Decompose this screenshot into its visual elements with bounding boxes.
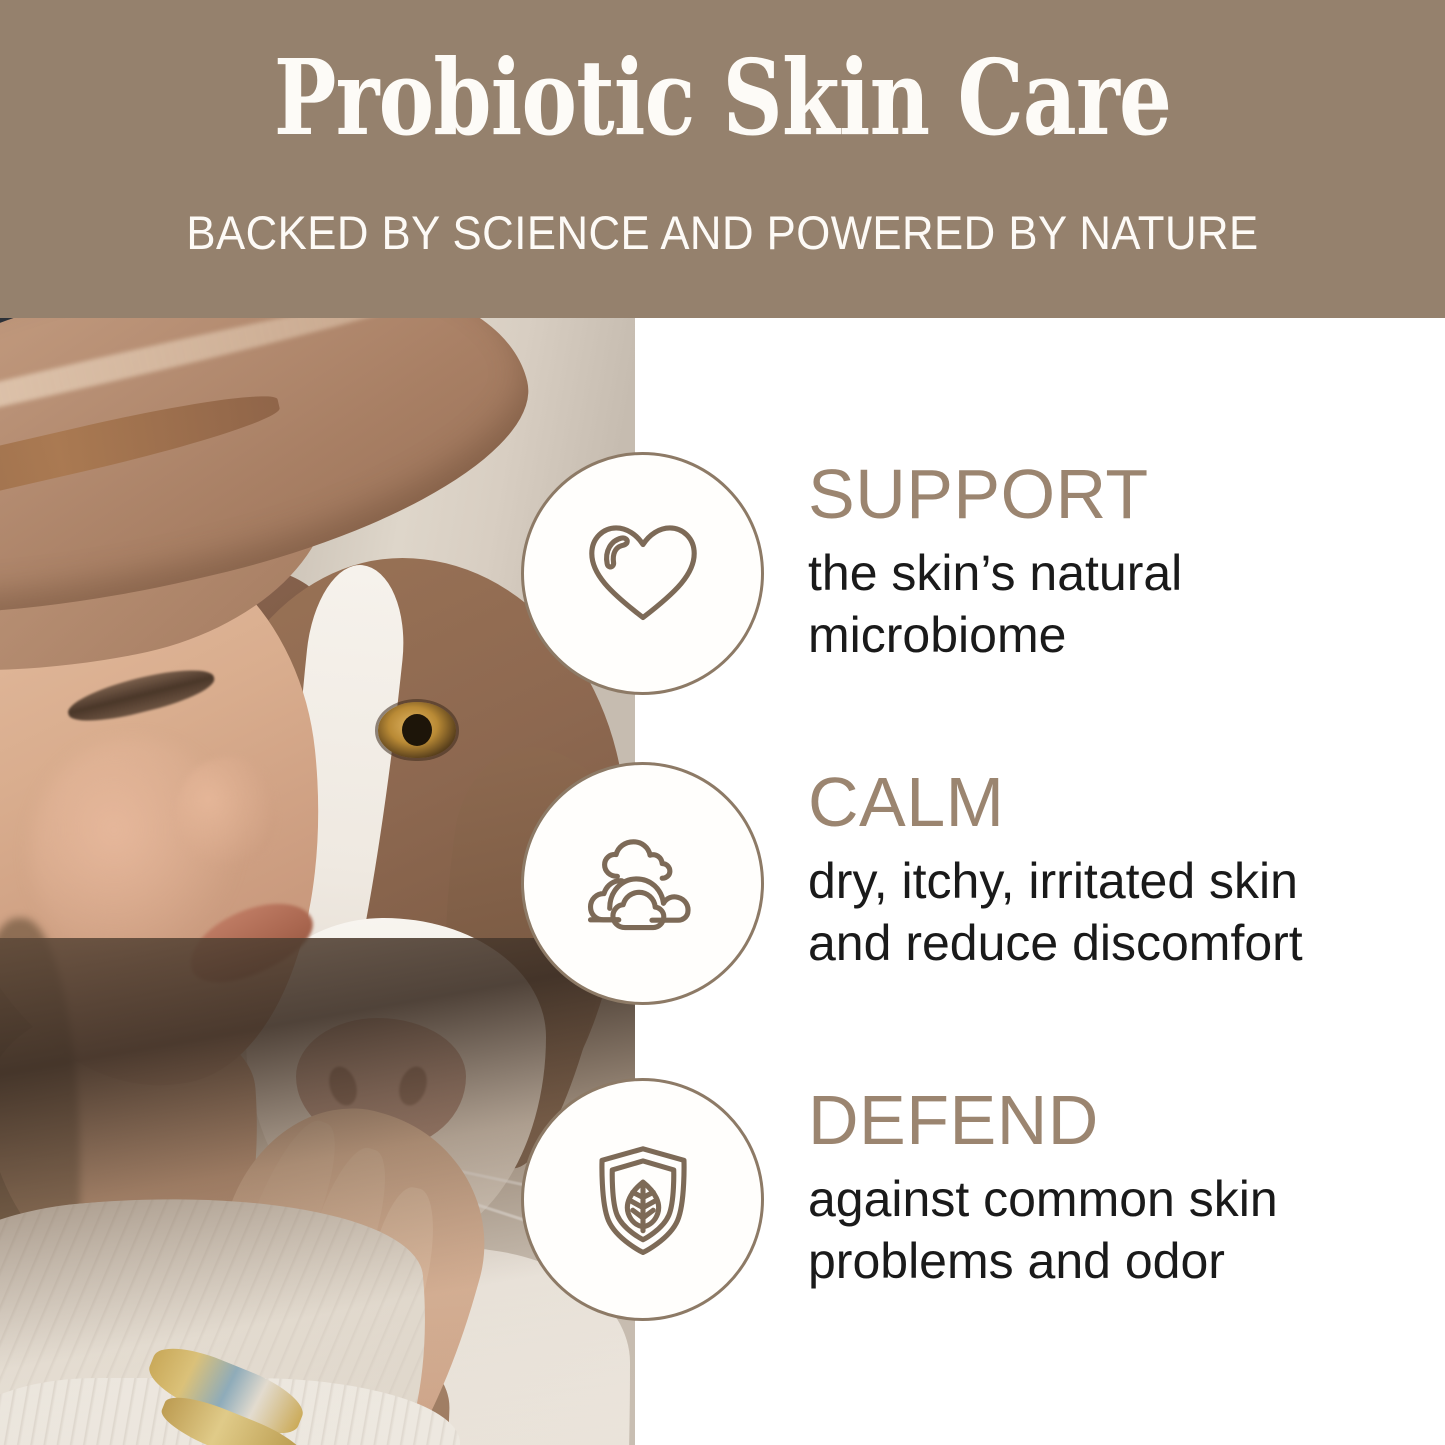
page-title: Probiotic Skin Care — [145, 42, 1301, 154]
benefit-heading-defend: DEFEND — [808, 1082, 1428, 1158]
header-band: Probiotic Skin Care BACKED BY SCIENCE AN… — [0, 0, 1445, 318]
benefit-body-calm: dry, itchy, irritated skin and reduce di… — [808, 850, 1428, 974]
benefit-body-support: the skin’s natural microbiome — [808, 542, 1428, 666]
clouds-icon — [579, 820, 707, 948]
shield-leaf-icon — [579, 1136, 707, 1264]
probiotic-skin-care-infographic: Probiotic Skin Care BACKED BY SCIENCE AN… — [0, 0, 1445, 1445]
benefit-heading-support: SUPPORT — [808, 456, 1428, 532]
benefit-body-line: microbiome — [808, 604, 1428, 666]
benefit-body-line: against common skin — [808, 1168, 1428, 1230]
benefit-body-line: problems and odor — [808, 1230, 1428, 1292]
benefit-row-calm: CALM dry, itchy, irritated skin and redu… — [0, 762, 1445, 1022]
heart-icon — [579, 510, 707, 638]
benefit-text-support: SUPPORT the skin’s natural microbiome — [808, 456, 1428, 666]
benefit-text-defend: DEFEND against common skin problems and … — [808, 1082, 1428, 1292]
dog-pupil-right — [402, 714, 432, 746]
benefit-heading-calm: CALM — [808, 764, 1428, 840]
benefit-row-defend: DEFEND against common skin problems and … — [0, 1078, 1445, 1338]
clouds-icon-badge — [521, 762, 764, 1005]
benefit-row-support: SUPPORT the skin’s natural microbiome — [0, 452, 1445, 712]
benefit-text-calm: CALM dry, itchy, irritated skin and redu… — [808, 764, 1428, 974]
benefit-body-line: the skin’s natural — [808, 542, 1428, 604]
heart-icon-badge — [521, 452, 764, 695]
shield-leaf-icon-badge — [521, 1078, 764, 1321]
benefit-body-defend: against common skin problems and odor — [808, 1168, 1428, 1292]
page-subtitle: BACKED BY SCIENCE AND POWERED BY NATURE — [51, 205, 1395, 261]
benefit-body-line: dry, itchy, irritated skin — [808, 850, 1428, 912]
benefit-body-line: and reduce discomfort — [808, 912, 1428, 974]
